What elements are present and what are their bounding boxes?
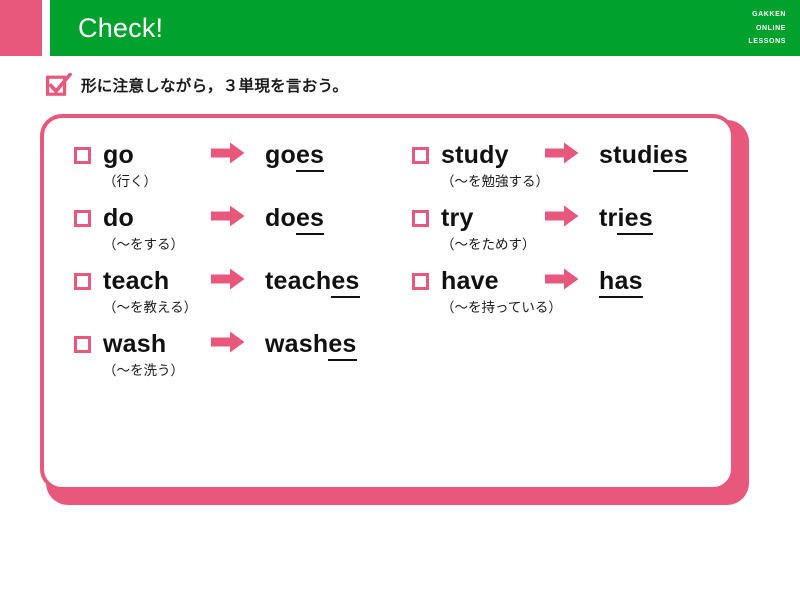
verb-column-right: studystudies（〜を勉強する）trytries（〜をためす）haveh…: [412, 138, 732, 327]
checkbox-icon[interactable]: [412, 273, 429, 290]
verb-form-stem: tr: [599, 204, 617, 232]
verb-japanese-gloss: （行く）: [103, 173, 414, 191]
brand-logo-line-3: LESSONS: [748, 34, 786, 48]
verb-third-person-form: does: [265, 204, 324, 233]
verb-form-suffix-underlined: es: [296, 141, 324, 172]
content-panel: gogoes（行く）dodoes（〜をする）teachteaches（〜を教える…: [40, 114, 735, 491]
checkbox-icon[interactable]: [74, 273, 91, 290]
brand-logo-line-1: GAKKEN: [748, 7, 786, 21]
checkbox-icon[interactable]: [74, 210, 91, 227]
verb-form-suffix-underlined: es: [328, 330, 356, 361]
verb-base-form: teach: [103, 267, 211, 296]
verb-form-stem: go: [265, 141, 296, 169]
checkbox-icon[interactable]: [74, 147, 91, 164]
verb-third-person-form: teaches: [265, 267, 360, 296]
verb-form-suffix-underlined: has: [599, 267, 643, 298]
verb-base-form: have: [441, 267, 545, 296]
checkbox-icon[interactable]: [412, 210, 429, 227]
verb-third-person-form: studies: [599, 141, 688, 170]
verb-third-person-form: has: [599, 267, 643, 296]
verb-base-form: do: [103, 204, 211, 233]
arrow-right-icon: [545, 268, 579, 295]
verb-third-person-form: goes: [265, 141, 324, 170]
verb-base-form: study: [441, 141, 545, 170]
verb-column-left: gogoes（行く）dodoes（〜をする）teachteaches（〜を教える…: [74, 138, 414, 390]
brand-logo-line-2: ONLINE: [748, 21, 786, 35]
verb-row: washwashes（〜を洗う）: [74, 327, 414, 380]
verb-japanese-gloss: （〜を洗う）: [103, 362, 414, 380]
verb-row: teachteaches（〜を教える）: [74, 264, 414, 317]
checkbox-icon[interactable]: [412, 147, 429, 164]
verb-third-person-form: tries: [599, 204, 653, 233]
header-accent-strip: [0, 0, 42, 56]
verb-japanese-gloss: （〜を教える）: [103, 299, 414, 317]
verb-form-suffix-underlined: es: [331, 267, 359, 298]
arrow-right-icon: [545, 142, 579, 169]
verb-form-stem: stud: [599, 141, 653, 169]
verb-form-stem: do: [265, 204, 296, 232]
verb-base-form: wash: [103, 330, 211, 359]
verb-base-form: go: [103, 141, 211, 170]
instruction-line: 形に注意しながら，３単現を言おう。: [46, 72, 348, 98]
arrow-right-icon: [211, 268, 245, 295]
verb-form-suffix-underlined: es: [296, 204, 324, 235]
verb-form-stem: teach: [265, 267, 331, 295]
arrow-right-icon: [211, 142, 245, 169]
verb-third-person-form: washes: [265, 330, 357, 359]
verb-form-suffix-underlined: ies: [653, 141, 688, 172]
verb-japanese-gloss: （〜をする）: [103, 236, 414, 254]
verb-row: gogoes（行く）: [74, 138, 414, 191]
checkbox-checked-icon: [46, 73, 72, 97]
verb-japanese-gloss: （〜を持っている）: [441, 299, 732, 317]
arrow-right-icon: [211, 331, 245, 358]
verb-row: dodoes（〜をする）: [74, 201, 414, 254]
verb-japanese-gloss: （〜をためす）: [441, 236, 732, 254]
verb-base-form: try: [441, 204, 545, 233]
slide-header: Check! GAKKEN ONLINE LESSONS: [0, 0, 800, 56]
verb-row: havehas（〜を持っている）: [412, 264, 732, 317]
brand-logo: GAKKEN ONLINE LESSONS: [748, 7, 786, 48]
header-green-bar: Check! GAKKEN ONLINE LESSONS: [50, 0, 800, 56]
verb-japanese-gloss: （〜を勉強する）: [441, 173, 732, 191]
page-title: Check!: [78, 0, 163, 56]
verb-form-stem: wash: [265, 330, 328, 358]
arrow-right-icon: [545, 205, 579, 232]
verb-form-suffix-underlined: ies: [617, 204, 652, 235]
verb-row: trytries（〜をためす）: [412, 201, 732, 254]
instruction-text: 形に注意しながら，３単現を言おう。: [81, 74, 348, 96]
verb-row: studystudies（〜を勉強する）: [412, 138, 732, 191]
arrow-right-icon: [211, 205, 245, 232]
checkbox-icon[interactable]: [74, 336, 91, 353]
